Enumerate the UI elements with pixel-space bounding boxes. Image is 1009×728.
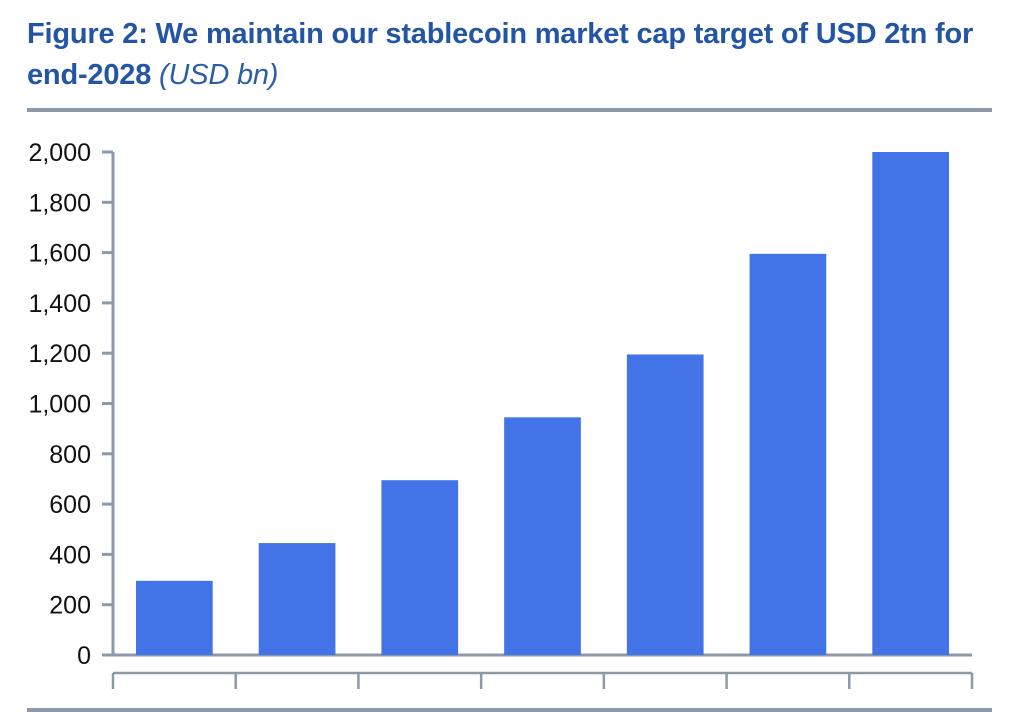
x-axis-tick-label: Jun-26: [259, 699, 335, 703]
figure-container: Figure 2: We maintain our stablecoin mar…: [0, 0, 1009, 728]
figure-title: Figure 2: We maintain our stablecoin mar…: [27, 14, 992, 96]
y-axis-tick-label: 600: [49, 491, 91, 519]
bar: [504, 417, 581, 655]
y-axis-tick-label: 1,000: [28, 391, 91, 419]
figure-header: Figure 2: We maintain our stablecoin mar…: [27, 14, 992, 96]
x-axis-tick-label: Dec-25: [134, 699, 215, 703]
y-axis-tick-label: 0: [77, 642, 91, 670]
bar: [872, 152, 949, 655]
x-axis-tick-label: Dec-26: [379, 699, 460, 703]
figure-title-unit: (USD bn): [151, 59, 278, 91]
bar: [381, 480, 458, 655]
y-axis-tick-label: 1,200: [28, 340, 91, 368]
x-axis-tick-label: Jun-27: [504, 699, 580, 703]
x-axis-tick-label: Jun-28: [750, 699, 826, 703]
y-axis-tick-label: 1,600: [28, 240, 91, 268]
bar: [750, 254, 827, 655]
x-axis-tick-label: Dec-28: [870, 699, 951, 703]
y-axis-tick-label: 1,800: [28, 189, 91, 217]
footer-divider-rule: [27, 708, 992, 712]
header-divider-rule: [27, 108, 992, 112]
bar-chart: 02004006008001,0001,2001,4001,6001,8002,…: [0, 118, 1009, 703]
y-axis-tick-label: 1,400: [28, 290, 91, 318]
chart-plot-area: 02004006008001,0001,2001,4001,6001,8002,…: [0, 118, 1009, 703]
y-axis-tick-label: 2,000: [28, 139, 91, 167]
y-axis-tick-label: 800: [49, 441, 91, 469]
bar: [259, 543, 336, 655]
y-axis-tick-label: 200: [49, 592, 91, 620]
x-axis-tick-label: Dec-27: [625, 699, 706, 703]
bar: [627, 354, 704, 655]
y-axis-tick-label: 400: [49, 541, 91, 569]
bar: [136, 581, 213, 655]
